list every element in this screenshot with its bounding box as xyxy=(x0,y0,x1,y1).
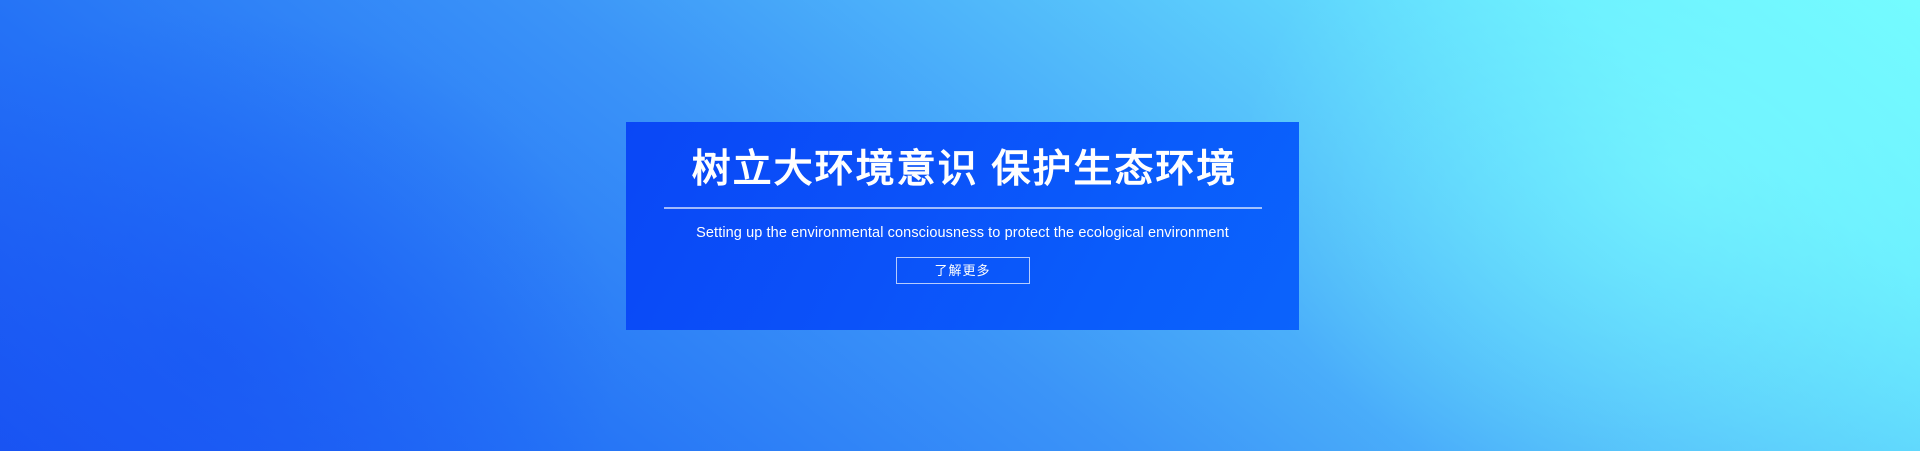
headline-divider xyxy=(664,207,1262,209)
background-glow-top-right xyxy=(1240,0,1920,451)
hero-headline: 树立大环境意识 保护生态环境 xyxy=(688,148,1238,193)
hero-subtitle: Setting up the environmental consciousne… xyxy=(696,224,1229,243)
background-glow-bottom-left xyxy=(0,11,620,451)
hero-banner: 树立大环境意识 保护生态环境 Setting up the environmen… xyxy=(0,0,1920,451)
hero-content-panel: 树立大环境意识 保护生态环境 Setting up the environmen… xyxy=(626,122,1299,330)
learn-more-button[interactable]: 了解更多 xyxy=(896,257,1030,284)
